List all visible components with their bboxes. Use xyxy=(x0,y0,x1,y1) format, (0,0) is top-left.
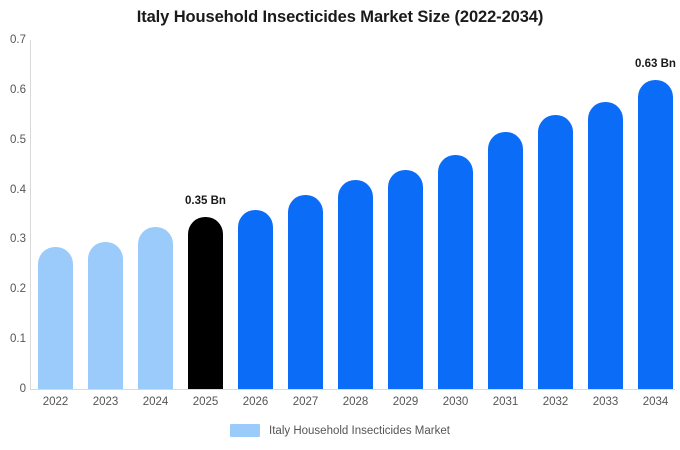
y-axis-tick-label: 0.5 xyxy=(2,134,26,146)
bar-rect-2029[interactable] xyxy=(388,170,423,389)
y-axis-tick-label: 0.3 xyxy=(2,233,26,245)
chart-title: Italy Household Insecticides Market Size… xyxy=(0,8,680,27)
bar-rect-2028[interactable] xyxy=(338,180,373,389)
bar-rect-2024[interactable] xyxy=(138,227,173,389)
bar-2029[interactable] xyxy=(388,40,423,389)
x-axis-tick-label-2030: 2030 xyxy=(443,396,469,408)
legend-swatch-italy-household-insecticides-market xyxy=(230,424,260,437)
bar-rect-2022[interactable] xyxy=(38,247,73,389)
bar-value-label-2034: 0.63 Bn xyxy=(635,58,676,70)
bar-2026[interactable] xyxy=(238,40,273,389)
y-axis-tick-label: 0.4 xyxy=(2,184,26,196)
bar-2028[interactable] xyxy=(338,40,373,389)
legend-label-italy-household-insecticides-market: Italy Household Insecticides Market xyxy=(269,425,450,437)
x-axis-tick-label-2022: 2022 xyxy=(43,396,69,408)
x-axis-tick-label-2028: 2028 xyxy=(343,396,369,408)
bar-rect-2033[interactable] xyxy=(588,102,623,389)
bar-2034[interactable] xyxy=(638,40,673,389)
bar-2023[interactable] xyxy=(88,40,123,389)
x-axis-tick-label-2031: 2031 xyxy=(493,396,519,408)
bar-2033[interactable] xyxy=(588,40,623,389)
x-axis-tick-label-2024: 2024 xyxy=(143,396,169,408)
bar-rect-2032[interactable] xyxy=(538,115,573,389)
y-axis-tick-label: 0.1 xyxy=(2,333,26,345)
bar-2022[interactable] xyxy=(38,40,73,389)
bar-2030[interactable] xyxy=(438,40,473,389)
chart-container: Italy Household Insecticides Market Size… xyxy=(0,0,680,450)
bar-2031[interactable] xyxy=(488,40,523,389)
bar-rect-2023[interactable] xyxy=(88,242,123,389)
x-axis-tick-label-2034: 2034 xyxy=(643,396,669,408)
y-axis-tick-label: 0.2 xyxy=(2,283,26,295)
chart-legend: Italy Household Insecticides Market xyxy=(0,424,680,437)
bar-rect-2027[interactable] xyxy=(288,195,323,389)
y-axis-tick-labels: 00.10.20.30.40.50.60.7 xyxy=(0,0,26,450)
bar-2027[interactable] xyxy=(288,40,323,389)
bar-rect-2031[interactable] xyxy=(488,132,523,389)
y-axis-tick-label: 0.7 xyxy=(2,34,26,46)
x-axis-tick-label-2032: 2032 xyxy=(543,396,569,408)
y-axis-tick-label: 0 xyxy=(2,383,26,395)
bar-rect-2025[interactable] xyxy=(188,217,223,389)
bar-value-label-2025: 0.35 Bn xyxy=(185,195,226,207)
x-axis-tick-label-2029: 2029 xyxy=(393,396,419,408)
bar-rect-2034[interactable] xyxy=(638,80,673,389)
x-axis-tick-label-2027: 2027 xyxy=(293,396,319,408)
x-axis-tick-label-2023: 2023 xyxy=(93,396,119,408)
x-axis-tick-label-2033: 2033 xyxy=(593,396,619,408)
bar-2025[interactable] xyxy=(188,40,223,389)
bar-rect-2026[interactable] xyxy=(238,210,273,389)
bar-rect-2030[interactable] xyxy=(438,155,473,389)
bar-2032[interactable] xyxy=(538,40,573,389)
y-axis-tick-label: 0.6 xyxy=(2,84,26,96)
x-axis-tick-label-2026: 2026 xyxy=(243,396,269,408)
x-axis-line xyxy=(30,389,675,390)
x-axis-tick-label-2025: 2025 xyxy=(193,396,219,408)
bar-2024[interactable] xyxy=(138,40,173,389)
